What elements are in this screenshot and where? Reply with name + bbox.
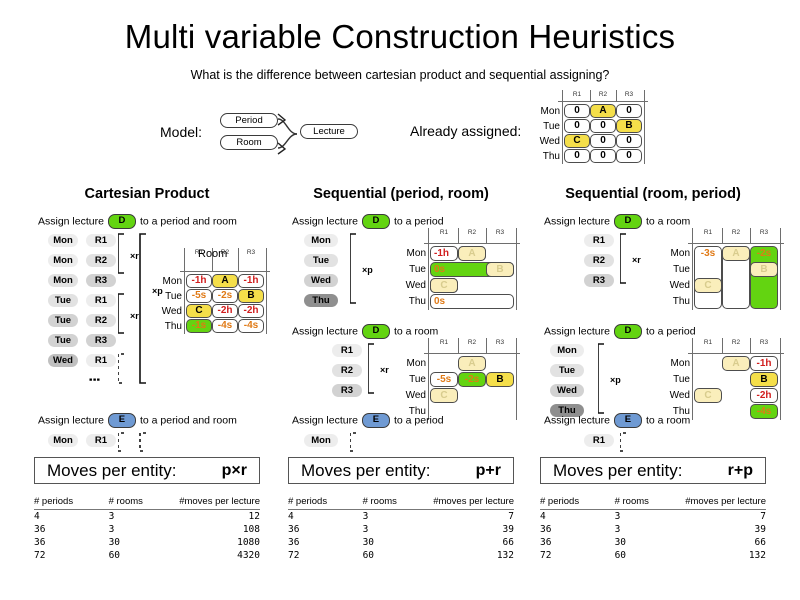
room-chip[interactable]: R2	[86, 254, 116, 267]
room-chip[interactable]: R1	[86, 354, 116, 367]
row-header: Thu	[154, 321, 182, 332]
period-chip[interactable]: Mon	[48, 254, 78, 267]
assign-suffix: to a period	[646, 325, 696, 337]
row-header: Tue	[532, 121, 560, 132]
table-row: 7260132	[288, 549, 514, 562]
grid-cell: -4s	[238, 319, 264, 333]
assign-prefix: Assign lecture	[544, 215, 610, 227]
table-cell: 1080	[170, 536, 260, 549]
col-header: R1	[430, 229, 458, 236]
assign-lecture-d-row: Assign lectureDto a period and room	[38, 214, 237, 229]
period-chip[interactable]: Wed	[550, 384, 584, 397]
table-cell: 4	[34, 510, 109, 524]
col-header: R3	[238, 249, 264, 256]
grid-rule	[558, 101, 648, 102]
model-diagram: Model: Period Room Lecture	[152, 104, 392, 164]
sequential-room-grid: R1R2R3MonTueWedThuA-5s-2sBC	[396, 338, 518, 424]
table-cell: 36	[34, 536, 109, 549]
table-cell: 36	[34, 523, 109, 536]
row-header: Mon	[662, 358, 690, 369]
assign-lecture-d-room-row: Assign lectureDto a room	[544, 214, 690, 229]
row-header: Mon	[398, 248, 426, 259]
page-subtitle: What is the difference between cartesian…	[0, 68, 800, 82]
row-header: Mon	[662, 248, 690, 259]
moves-label: Moves per entity:	[35, 461, 176, 481]
room-chip[interactable]: R1	[86, 234, 116, 247]
col-header: R1	[564, 91, 590, 98]
period-chip[interactable]: Wed	[304, 274, 338, 287]
table-row: 363066	[540, 536, 766, 549]
ghost-cell: B	[750, 262, 778, 277]
assign-suffix: to a period	[394, 414, 444, 426]
lecture-chip-d[interactable]: D	[362, 214, 390, 229]
assign-prefix: Assign lecture	[544, 325, 610, 337]
assign-lecture-e-row: Assign lectureEto a room	[544, 413, 690, 428]
grid-cell: -2s	[212, 289, 238, 303]
table-cell: 4	[288, 510, 363, 524]
grid-rule	[180, 271, 270, 272]
col-header: R2	[590, 91, 616, 98]
room-chip[interactable]: R1	[584, 434, 614, 447]
period-chip[interactable]: Tue	[550, 364, 584, 377]
band-cell: -1h	[430, 246, 458, 261]
ghost-cell: C	[430, 278, 458, 293]
table-cell: 3	[109, 510, 170, 524]
column-cartesian-product: Cartesian Product Assign lectureDto a pe…	[34, 186, 284, 202]
multiplier-r: ×r	[632, 255, 641, 265]
period-chip[interactable]: Tue	[48, 294, 78, 307]
grid-line	[780, 338, 781, 420]
grid-tick	[750, 228, 751, 243]
col-header: R2	[458, 229, 486, 236]
ghost-cell: A	[458, 246, 486, 261]
grid-rule	[688, 243, 784, 244]
grid-cell: 0	[564, 104, 590, 118]
period-chip[interactable]: Wed	[48, 354, 78, 367]
room-chip[interactable]: R1	[584, 234, 614, 247]
table-cell: 3	[109, 523, 170, 536]
grid-cell: B	[238, 289, 264, 303]
row-header: Wed	[398, 390, 426, 401]
grid-cell: -1h	[238, 274, 264, 288]
already-assigned-grid: R1R2R3MonTueWedThu0A000BC00000	[538, 90, 646, 168]
table-cell: 132	[424, 549, 514, 562]
already-assigned-label: Already assigned:	[410, 123, 521, 139]
grid-cell: B	[750, 372, 778, 387]
table-row: 437	[288, 510, 514, 524]
moves-table: # periods# rooms#moves per lecture437363…	[540, 495, 766, 562]
grid-line	[516, 338, 517, 420]
table-cell: 132	[676, 549, 766, 562]
grid-line	[692, 338, 693, 420]
table-row: 7260132	[540, 549, 766, 562]
period-chip[interactable]: Thu	[304, 294, 338, 307]
column-header: # periods	[34, 495, 109, 510]
grid-cell: 0	[616, 104, 642, 118]
grid-cell: C	[186, 304, 212, 318]
multiplier-r: ×r	[130, 251, 139, 261]
grid-cell: B	[616, 119, 642, 133]
grid-cell: 0	[590, 119, 616, 133]
table-cell: 108	[170, 523, 260, 536]
grid-tick	[590, 90, 591, 101]
moves-table: # periods# rooms#moves per lecture431236…	[34, 495, 260, 562]
table-cell: 72	[34, 549, 109, 562]
row-header: Wed	[662, 280, 690, 291]
sequential-room-grid: R1R2R3MonTueWedThu-3s-3s-2sABC	[660, 228, 782, 314]
model-node-period: Period	[220, 113, 278, 128]
grid-cell: -5s	[430, 372, 458, 387]
grid-cell: C	[564, 134, 590, 148]
col-header: R3	[616, 91, 642, 98]
lecture-chip-e[interactable]: E	[614, 413, 642, 428]
brace	[620, 431, 650, 455]
ellipsis: ⋮	[92, 373, 96, 386]
table-row: 363066	[288, 536, 514, 549]
table-cell: 36	[540, 536, 615, 549]
grid-rule	[424, 243, 520, 244]
col-header: R2	[722, 339, 750, 346]
table-cell: 60	[615, 549, 676, 562]
grid-cell: A	[212, 274, 238, 288]
multiplier-p: ×p	[610, 375, 621, 385]
table-cell: 4	[540, 510, 615, 524]
grid-tick	[616, 90, 617, 101]
grid-line	[266, 248, 267, 334]
col-header: R3	[750, 339, 778, 346]
column-header: # rooms	[109, 495, 170, 510]
period-chip[interactable]: Mon	[48, 234, 78, 247]
multiplier-r: ×r	[130, 311, 139, 321]
table-row: 4312	[34, 510, 260, 524]
table-cell: 39	[676, 523, 766, 536]
moves-formula: r+p	[728, 462, 765, 480]
row-header: Thu	[532, 151, 560, 162]
table-row: 72604320	[34, 549, 260, 562]
table-header-row: # periods# rooms#moves per lecture	[540, 495, 766, 510]
assign-suffix: to a room	[646, 215, 690, 227]
table-cell: 60	[109, 549, 170, 562]
room-chip[interactable]: R3	[332, 384, 362, 397]
assign-suffix: to a period	[394, 215, 444, 227]
table-row: 363108	[34, 523, 260, 536]
lecture-chip-d[interactable]: D	[614, 324, 642, 339]
assign-lecture-d-room-row: Assign lectureDto a room	[292, 324, 438, 339]
grid-cell: -1h	[186, 274, 212, 288]
grid-tick	[722, 338, 723, 353]
table-cell: 3	[363, 523, 424, 536]
moves-formula: p×r	[222, 462, 259, 480]
table-cell: 72	[288, 549, 363, 562]
lecture-chip-d[interactable]: D	[614, 214, 642, 229]
room-chip[interactable]: R1	[332, 344, 362, 357]
column-header: # periods	[540, 495, 615, 510]
grid-tick	[238, 248, 239, 271]
column-header: #moves per lecture	[676, 495, 766, 510]
row-header: Wed	[398, 280, 426, 291]
moves-formula: p+r	[476, 462, 513, 480]
col-header: R2	[458, 339, 486, 346]
lecture-chip-e[interactable]: E	[108, 413, 136, 428]
grid-cell: -2h	[750, 388, 778, 403]
assign-suffix: to a room	[394, 325, 438, 337]
lecture-chip-e[interactable]: E	[362, 413, 390, 428]
sequential-period-grid: R1R2R3MonTueWedThuA-1hBC-2h-4s	[660, 338, 782, 424]
assign-suffix: to a room	[646, 414, 690, 426]
grid-tick	[722, 228, 723, 243]
room-chip[interactable]: R2	[332, 364, 362, 377]
assign-lecture-e-row: Assign lectureEto a period	[292, 413, 444, 428]
period-chip[interactable]: Mon	[304, 234, 338, 247]
table-cell: 3	[615, 523, 676, 536]
assign-prefix: Assign lecture	[38, 414, 104, 426]
column-title: Sequential (period, room)	[288, 186, 514, 202]
room-chip[interactable]: R1	[86, 434, 116, 447]
grid-caption-room: Room	[198, 248, 227, 260]
grid-cell: B	[486, 372, 514, 387]
brace-group	[118, 431, 178, 455]
multiplier-p: ×p	[362, 265, 373, 275]
grid-tick	[458, 338, 459, 353]
table-cell: 30	[615, 536, 676, 549]
multiplier-r: ×r	[380, 365, 389, 375]
brace	[350, 431, 380, 455]
row-header: Tue	[662, 374, 690, 385]
row-header: Wed	[662, 390, 690, 401]
assign-suffix: to a period and room	[140, 414, 237, 426]
grid-cell: 0	[590, 149, 616, 163]
moves-label: Moves per entity:	[289, 461, 430, 481]
assign-lecture-d-period-row: Assign lectureDto a period	[544, 324, 696, 339]
row-header: Thu	[398, 296, 426, 307]
row-header: Mon	[398, 358, 426, 369]
assign-lecture-e-row: Assign lectureEto a period and room	[38, 413, 237, 428]
grid-cell: -2h	[238, 304, 264, 318]
row-header: Thu	[662, 296, 690, 307]
col-header: R1	[430, 339, 458, 346]
assign-prefix: Assign lecture	[38, 215, 104, 227]
sequential-period-grid: R1R2R3MonTueWedThuABC-1h0s-2h0sABC	[396, 228, 518, 314]
period-chip[interactable]: Mon	[304, 434, 338, 447]
room-chip[interactable]: R1	[86, 294, 116, 307]
table-row: 36301080	[34, 536, 260, 549]
moves-box: Moves per entity: p×r	[34, 457, 260, 484]
row-header: Wed	[154, 306, 182, 317]
column-sequential-period-room: Sequential (period, room) Assign lecture…	[288, 186, 538, 202]
lecture-chip-d[interactable]: D	[362, 324, 390, 339]
grid-tick	[486, 338, 487, 353]
assign-prefix: Assign lecture	[544, 414, 610, 426]
moves-table: # periods# rooms#moves per lecture437363…	[288, 495, 514, 562]
table-cell: 36	[540, 523, 615, 536]
room-chip[interactable]: R3	[584, 274, 614, 287]
period-chip[interactable]: Mon	[48, 434, 78, 447]
table-cell: 7	[424, 510, 514, 524]
room-chip[interactable]: R3	[86, 334, 116, 347]
moves-label: Moves per entity:	[541, 461, 682, 481]
moves-box: Moves per entity: p+r	[288, 457, 514, 484]
room-chip[interactable]: R3	[86, 274, 116, 287]
grid-line	[516, 228, 517, 310]
period-chip[interactable]: Mon	[48, 274, 78, 287]
period-chip[interactable]: Tue	[48, 334, 78, 347]
grid-cell: 0	[590, 134, 616, 148]
grid-cell: 0	[616, 149, 642, 163]
grid-cell: -2h	[212, 304, 238, 318]
row-header: Mon	[154, 276, 182, 287]
table-cell: 12	[170, 510, 260, 524]
grid-rule	[424, 353, 520, 354]
grid-cell: 0	[616, 134, 642, 148]
assign-suffix: to a period and room	[140, 215, 237, 227]
grid-cell: A	[722, 356, 750, 371]
grid-cell: 0	[564, 119, 590, 133]
table-cell: 30	[363, 536, 424, 549]
table-cell: 3	[615, 510, 676, 524]
row-header: Wed	[532, 136, 560, 147]
table-header-row: # periods# rooms#moves per lecture	[288, 495, 514, 510]
band-cell: 0s	[430, 294, 514, 309]
period-chip[interactable]: Mon	[550, 344, 584, 357]
col-header: R3	[486, 339, 514, 346]
column-header: # rooms	[615, 495, 676, 510]
column-title: Sequential (room, period)	[540, 186, 766, 202]
grid-line	[644, 90, 645, 164]
table-cell: 72	[540, 549, 615, 562]
assign-prefix: Assign lecture	[292, 414, 358, 426]
column-title: Cartesian Product	[34, 186, 260, 202]
grid-line	[780, 228, 781, 310]
row-header: Mon	[532, 106, 560, 117]
grid-cell: -1h	[750, 356, 778, 371]
row-header: Tue	[662, 264, 690, 275]
ghost-cell: A	[722, 246, 750, 261]
grid-cell: C	[430, 388, 458, 403]
grid-tick	[750, 338, 751, 353]
ghost-cell: C	[694, 278, 722, 293]
cartesian-grid: R1R2R3MonTueWedThu-1hA-1h-5s-2sBC-2h-2h-…	[160, 248, 268, 338]
col-header: R3	[486, 229, 514, 236]
grid-cell: -5s	[186, 289, 212, 303]
ghost-cell: B	[486, 262, 514, 277]
column-header: #moves per lecture	[424, 495, 514, 510]
grid-tick	[458, 228, 459, 243]
column-header: # rooms	[363, 495, 424, 510]
assign-prefix: Assign lecture	[292, 215, 358, 227]
table-row: 36339	[540, 523, 766, 536]
table-cell: 36	[288, 536, 363, 549]
period-chip[interactable]: Tue	[304, 254, 338, 267]
assign-prefix: Assign lecture	[292, 325, 358, 337]
table-header-row: # periods# rooms#moves per lecture	[34, 495, 260, 510]
grid-cell: -4s	[750, 404, 778, 419]
grid-rule	[688, 353, 784, 354]
grid-cell: A	[590, 104, 616, 118]
table-cell: 39	[424, 523, 514, 536]
column-sequential-room-period: Sequential (room, period) Assign lecture…	[540, 186, 790, 202]
table-cell: 36	[288, 523, 363, 536]
grid-cell: A	[458, 356, 486, 371]
moves-box: Moves per entity: r+p	[540, 457, 766, 484]
grid-cell: -4s	[212, 319, 238, 333]
grid-tick	[486, 228, 487, 243]
table-cell: 30	[109, 536, 170, 549]
row-header: Tue	[398, 374, 426, 385]
band-cell: -2s	[750, 246, 778, 309]
column-header: #moves per lecture	[170, 495, 260, 510]
table-row: 437	[540, 510, 766, 524]
model-node-room: Room	[220, 135, 278, 150]
assign-lecture-d-period-row: Assign lectureDto a period	[292, 214, 444, 229]
col-header: R1	[694, 229, 722, 236]
table-cell: 3	[363, 510, 424, 524]
col-header: R3	[750, 229, 778, 236]
column-header: # periods	[288, 495, 363, 510]
table-cell: 60	[363, 549, 424, 562]
model-node-lecture: Lecture	[300, 124, 358, 139]
col-header: R2	[722, 229, 750, 236]
table-cell: 66	[424, 536, 514, 549]
period-chip[interactable]: Tue	[48, 314, 78, 327]
table-row: 36339	[288, 523, 514, 536]
grid-cell: -1s	[186, 319, 212, 333]
grid-line	[184, 248, 185, 334]
room-chip[interactable]: R2	[86, 314, 116, 327]
table-cell: 4320	[170, 549, 260, 562]
room-chip[interactable]: R2	[584, 254, 614, 267]
row-header: Tue	[398, 264, 426, 275]
grid-cell: 0	[564, 149, 590, 163]
grid-cell: -2s	[458, 372, 486, 387]
lecture-chip-d[interactable]: D	[108, 214, 136, 229]
table-cell: 7	[676, 510, 766, 524]
col-header: R1	[694, 339, 722, 346]
table-cell: 66	[676, 536, 766, 549]
row-header: Tue	[154, 291, 182, 302]
page-title: Multi variable Construction Heuristics	[0, 18, 800, 56]
grid-cell: C	[694, 388, 722, 403]
